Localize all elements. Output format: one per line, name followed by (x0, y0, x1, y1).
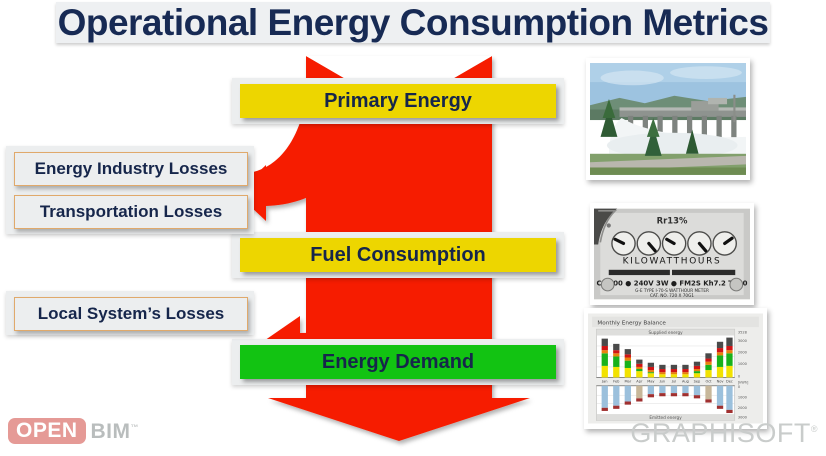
meter-spec-line: CL 200 ● 240V 3W ● FM2S Kh7.2 TA30 (596, 280, 747, 288)
graphisoft-logo[interactable]: GRAPHISOFT® (630, 420, 818, 447)
svg-text:1000: 1000 (738, 395, 748, 399)
svg-text:Jun: Jun (659, 380, 666, 384)
loss-box-energy-industry[interactable]: Energy Industry Losses (14, 152, 248, 186)
chart-title: Monthly Energy Balance (597, 320, 666, 326)
svg-text:Sep: Sep (694, 380, 701, 384)
graphisoft-text: GRAPHISOFT (630, 418, 811, 448)
page-title-text: Operational Energy Consumption Metrics (56, 2, 771, 43)
meter-sub-line-2: CAT. NO. 720 X 70G1 (650, 293, 694, 298)
svg-text:3000: 3000 (738, 339, 748, 343)
svg-text:Jan: Jan (601, 380, 607, 384)
meter-dials (612, 232, 736, 255)
meter-illustration: Rr13% KILOWATTHOURS CL 200 ● 240V 3W ● F… (594, 207, 750, 301)
chart-illustration: Monthly Energy Balance Supplied energy (588, 312, 763, 425)
svg-text:2000: 2000 (738, 350, 748, 354)
openbim-bim-text: BIM™ (91, 421, 140, 442)
flow-arrowhead-down (268, 383, 530, 441)
stage-label-fuel-consumption: Fuel Consumption (310, 244, 486, 267)
electric-meter-photo[interactable]: Rr13% KILOWATTHOURS CL 200 ● 240V 3W ● F… (590, 203, 754, 305)
svg-text:Mar: Mar (624, 380, 631, 384)
loss-label-local-system: Local System’s Losses (38, 304, 224, 324)
stage-box-primary-energy[interactable]: Primary Energy (240, 84, 556, 118)
svg-text:3528: 3528 (738, 330, 748, 334)
svg-text:May: May (647, 380, 654, 384)
chart-band-top: Supplied energy (648, 330, 683, 335)
openbim-logo[interactable]: OPEN BIM™ (8, 415, 138, 447)
openbim-trademark-icon: ™ (131, 423, 140, 432)
svg-text:1000: 1000 (738, 362, 748, 366)
slide-canvas: Operational Energy Consumption Metrics P… (0, 0, 826, 456)
svg-text:Aug: Aug (682, 380, 689, 384)
meter-sub-line-1: G-E TYPE I-70-S WATTHOUR METER (635, 288, 709, 293)
svg-text:Dec: Dec (726, 380, 733, 384)
openbim-open-text: OPEN (8, 418, 86, 444)
loss-label-transportation: Transportation Losses (40, 202, 222, 222)
meter-top-text: Rr13% (657, 215, 688, 225)
svg-text:Feb: Feb (613, 380, 620, 384)
loss-box-transportation[interactable]: Transportation Losses (14, 195, 248, 229)
meter-main-text: KILOWATTHOURS (623, 256, 722, 266)
svg-text:Nov: Nov (717, 380, 724, 384)
svg-text:2000: 2000 (738, 406, 748, 410)
graphisoft-trademark-icon: ® (811, 424, 818, 434)
dam-illustration (590, 62, 746, 176)
monthly-energy-balance-chart[interactable]: Monthly Energy Balance Supplied energy (584, 308, 767, 429)
svg-text:Apr: Apr (636, 380, 643, 384)
hydroelectric-dam-photo[interactable] (586, 58, 750, 180)
stage-box-energy-demand[interactable]: Energy Demand (240, 345, 556, 379)
loss-label-energy-industry: Energy Industry Losses (35, 159, 228, 179)
stage-label-primary-energy: Primary Energy (324, 90, 472, 113)
page-title: Operational Energy Consumption Metrics (0, 2, 826, 44)
loss-box-local-system[interactable]: Local System’s Losses (14, 297, 248, 331)
stage-box-fuel-consumption[interactable]: Fuel Consumption (240, 238, 556, 272)
stage-label-energy-demand: Energy Demand (322, 351, 474, 374)
svg-text:Jul: Jul (671, 380, 676, 384)
svg-text:Oct: Oct (705, 380, 712, 384)
